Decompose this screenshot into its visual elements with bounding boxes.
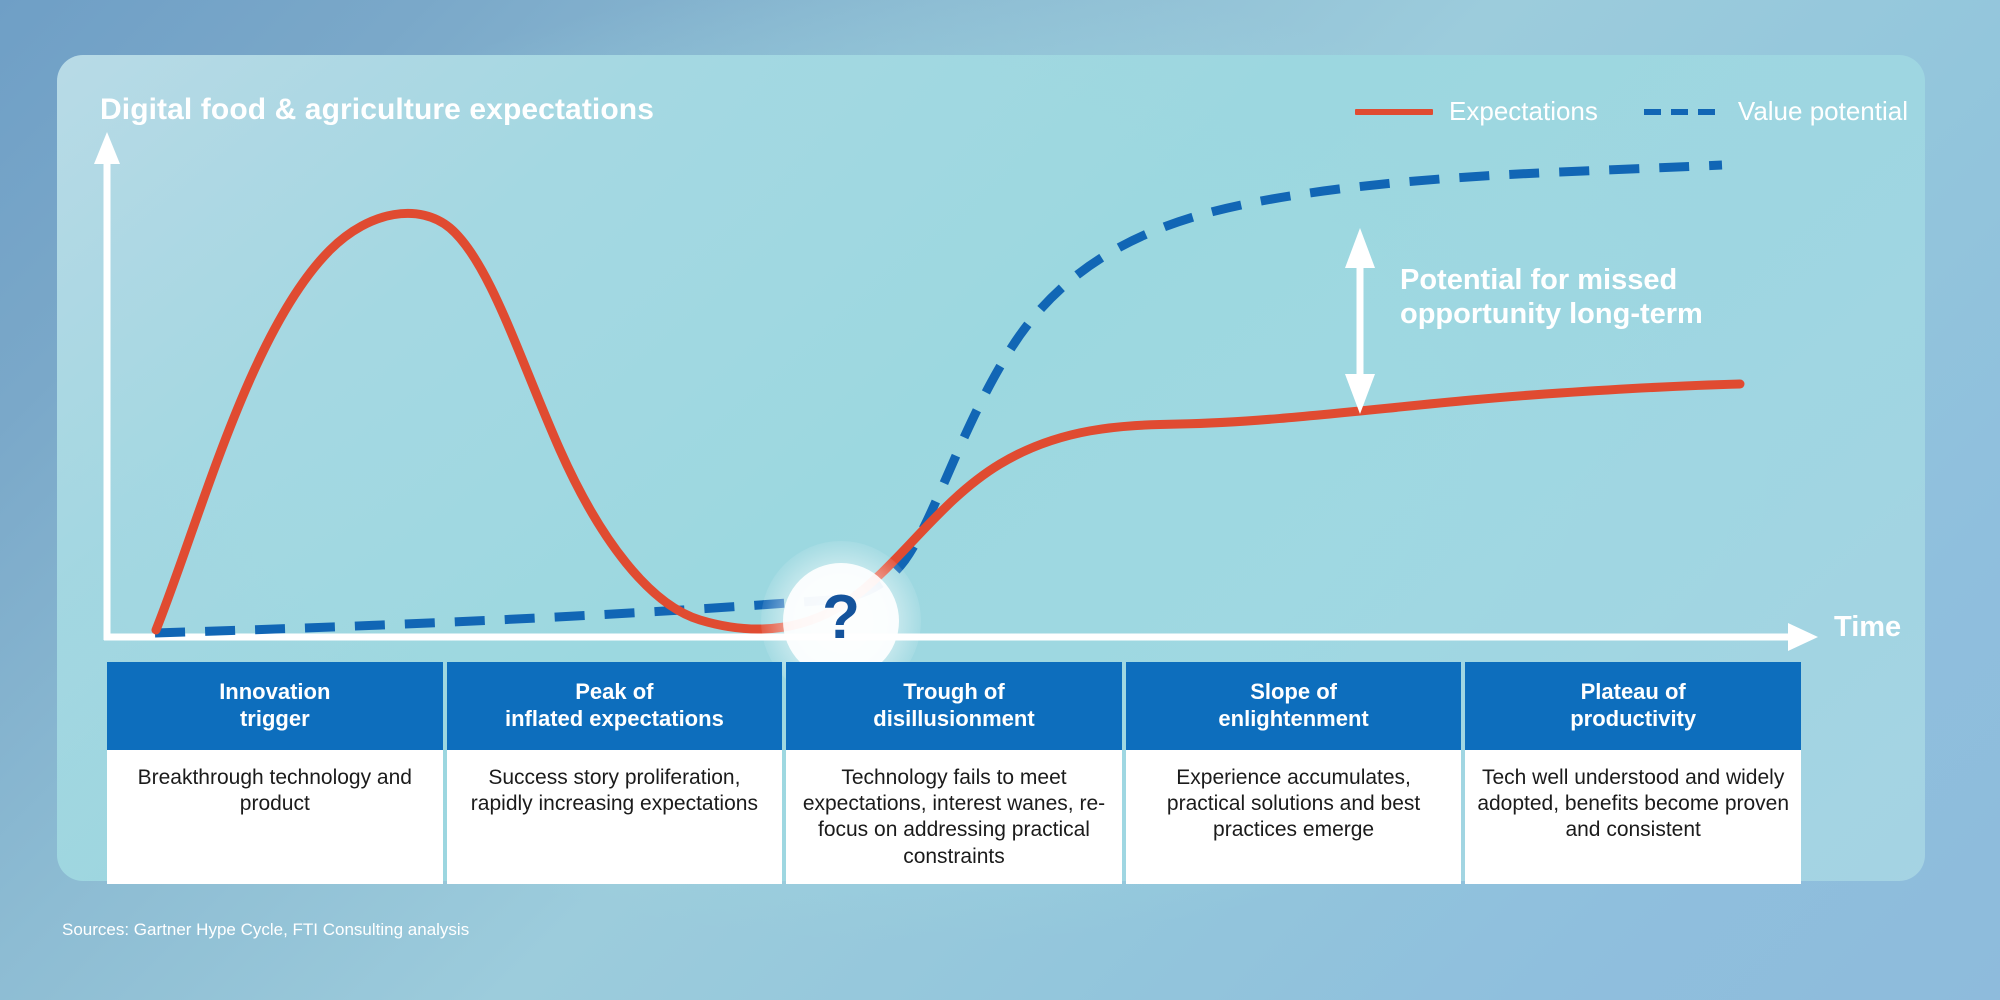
gap-callout-line1: Potential for missed xyxy=(1400,264,1800,298)
legend-solid-line-icon xyxy=(1355,109,1433,115)
hype-cycle-stage-table: Innovation trigger Breakthrough technolo… xyxy=(107,662,1801,884)
stage-header-line1: Trough of xyxy=(794,678,1114,705)
stage-header-line2: inflated expectations xyxy=(455,705,775,732)
stage-body-innovation-trigger: Breakthrough technology and product xyxy=(107,750,443,885)
stage-column-trough-of-disillusionment: Trough of disillusionment Technology fai… xyxy=(786,662,1122,884)
stage-column-peak-of-inflated-expectations: Peak of inflated expectations Success st… xyxy=(447,662,783,884)
stage-column-slope-of-enlightenment: Slope of enlightenment Experience accumu… xyxy=(1126,662,1462,884)
legend-item-expectations: Expectations xyxy=(1355,96,1598,127)
stage-header-innovation-trigger: Innovation trigger xyxy=(107,662,443,750)
x-axis-label: Time xyxy=(1834,611,1901,644)
stage-body-plateau-of-productivity: Tech well understood and widely adopted,… xyxy=(1465,750,1801,885)
stage-header-line2: productivity xyxy=(1473,705,1793,732)
stage-header-line2: trigger xyxy=(115,705,435,732)
question-mark-glyph: ? xyxy=(822,587,860,649)
legend-label-expectations: Expectations xyxy=(1449,96,1598,127)
stage-header-line1: Innovation xyxy=(115,678,435,705)
page-title: Digital food & agriculture expectations xyxy=(100,93,654,127)
stage-header-peak-of-inflated-expectations: Peak of inflated expectations xyxy=(447,662,783,750)
legend-dashed-line-icon xyxy=(1644,109,1722,115)
gap-callout-line2: opportunity long-term xyxy=(1400,298,1800,332)
stage-header-line1: Plateau of xyxy=(1473,678,1793,705)
stage-body-peak-of-inflated-expectations: Success story proliferation, rapidly inc… xyxy=(447,750,783,885)
stage-header-line1: Peak of xyxy=(455,678,775,705)
stage-body-trough-of-disillusionment: Technology fails to meet expectations, i… xyxy=(786,750,1122,885)
stage-header-line2: enlightenment xyxy=(1134,705,1454,732)
stage-header-line2: disillusionment xyxy=(794,705,1114,732)
stage-header-slope-of-enlightenment: Slope of enlightenment xyxy=(1126,662,1462,750)
stage-body-slope-of-enlightenment: Experience accumulates, practical soluti… xyxy=(1126,750,1462,885)
chart-legend: Expectations Value potential xyxy=(1355,96,1908,127)
stage-header-line1: Slope of xyxy=(1134,678,1454,705)
legend-label-value-potential: Value potential xyxy=(1738,96,1908,127)
stage-column-innovation-trigger: Innovation trigger Breakthrough technolo… xyxy=(107,662,443,884)
legend-item-value-potential: Value potential xyxy=(1644,96,1908,127)
gap-callout-text: Potential for missed opportunity long-te… xyxy=(1400,264,1800,332)
sources-note: Sources: Gartner Hype Cycle, FTI Consult… xyxy=(62,920,469,940)
stage-column-plateau-of-productivity: Plateau of productivity Tech well unders… xyxy=(1465,662,1801,884)
stage-header-trough-of-disillusionment: Trough of disillusionment xyxy=(786,662,1122,750)
stage-header-plateau-of-productivity: Plateau of productivity xyxy=(1465,662,1801,750)
chart-canvas: Digital food & agriculture expectations … xyxy=(0,0,2000,1000)
